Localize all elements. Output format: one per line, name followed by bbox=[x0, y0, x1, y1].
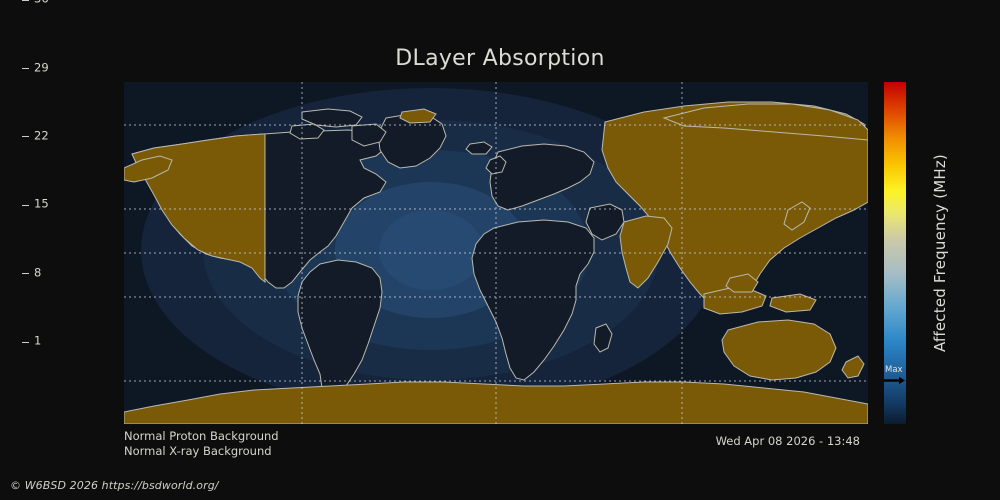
colorbar-axis-label-wrap: Affected Frequency (MHz) bbox=[929, 82, 951, 424]
tick-label: 15 bbox=[34, 199, 49, 211]
copyright-credit: © W6BSD 2026 https://bsdworld.org/ bbox=[10, 479, 219, 492]
colorbar-axis-label: Affected Frequency (MHz) bbox=[931, 154, 949, 352]
tick-label: 22 bbox=[34, 131, 49, 143]
page-title: DLayer Absorption bbox=[0, 46, 1000, 71]
tick-label: 36 bbox=[34, 0, 49, 5]
tick-label: 29 bbox=[34, 62, 49, 74]
page-root: DLayer Absorption bbox=[0, 0, 1000, 500]
tick-mark bbox=[22, 342, 29, 343]
absorption-contour-peak bbox=[379, 210, 483, 290]
tick-mark bbox=[22, 68, 29, 69]
tick-mark bbox=[22, 0, 29, 1]
world-map[interactable] bbox=[124, 82, 868, 424]
timestamp: Wed Apr 08 2026 - 13:48 bbox=[716, 434, 860, 448]
colorbar[interactable] bbox=[884, 82, 906, 424]
tick-label: 8 bbox=[34, 267, 41, 279]
colorbar-ticks: 3629221581 bbox=[22, 0, 82, 342]
tick-mark bbox=[22, 273, 29, 274]
tick-label: 1 bbox=[34, 336, 41, 348]
status-block: Normal Proton Background Normal X-ray Ba… bbox=[124, 429, 279, 459]
status-proton-background: Normal Proton Background bbox=[124, 429, 279, 444]
colorbar-gradient bbox=[884, 82, 906, 424]
map-canvas bbox=[124, 82, 868, 424]
tick-mark bbox=[22, 205, 29, 206]
tick-mark bbox=[22, 136, 29, 137]
status-xray-background: Normal X-ray Background bbox=[124, 444, 279, 459]
